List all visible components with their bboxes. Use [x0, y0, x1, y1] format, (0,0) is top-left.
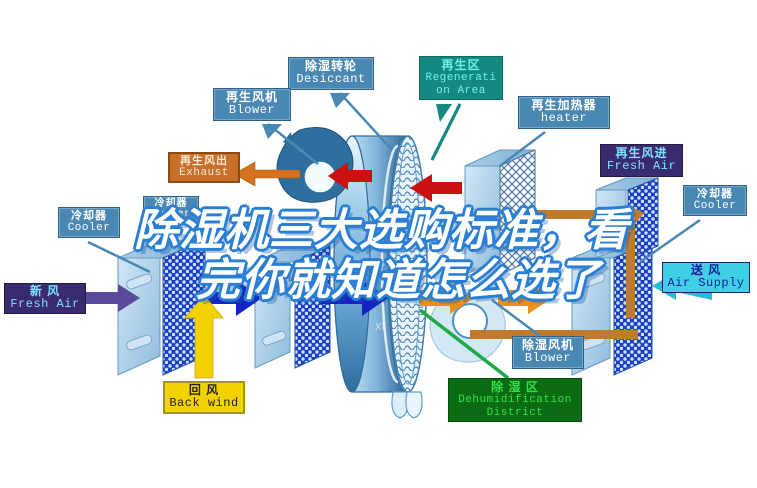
label-desiccant-wheel-en: Desiccant: [289, 73, 373, 86]
label-air-supply-en: Air Supply: [663, 277, 749, 290]
post-cooler-coil: [255, 246, 330, 368]
label-regeneration-blower-en: Blower: [214, 104, 290, 117]
label-regeneration-heater-cn: 再生加热器: [519, 99, 609, 112]
label-regeneration-area-en2: on Area: [420, 85, 502, 97]
pre-cooler-coil: [118, 240, 205, 375]
label-exhaust-en: Exhaust: [170, 167, 238, 179]
label-fresh-air-in[interactable]: 新 风 Fresh Air: [4, 283, 86, 314]
label-exhaust-cn: 再生风出: [170, 155, 238, 167]
label-regeneration-fresh-air-in-cn: 再生风进: [601, 147, 682, 160]
label-dehumidification-blower-cn: 除湿风机: [513, 339, 583, 352]
label-regeneration-fresh-air-in-en: Fresh Air: [601, 160, 682, 173]
label-regeneration-blower[interactable]: 再生风机 Blower: [213, 88, 291, 121]
label-cooler-left[interactable]: 冷却器 Cooler: [58, 207, 120, 238]
label-dehumidification-district-en1: Dehumidification: [449, 394, 581, 406]
svg-text:xt: xt: [375, 318, 386, 333]
label-regeneration-area[interactable]: 再生区 Regenerati on Area: [419, 56, 503, 100]
dehumidifier-diagram: xt: [0, 0, 757, 488]
label-regeneration-fresh-air-in[interactable]: 再生风进 Fresh Air: [600, 144, 683, 177]
label-cooler-right-en: Cooler: [684, 200, 746, 212]
label-exhaust[interactable]: 再生风出 Exhaust: [168, 152, 240, 183]
label-dehumidification-district[interactable]: 除 湿 区 Dehumidification District: [448, 378, 582, 422]
label-cooler-right[interactable]: 冷却器 Cooler: [683, 185, 747, 216]
label-back-wind-en: Back wind: [165, 397, 243, 410]
machine-schematic: xt: [0, 0, 757, 488]
label-regeneration-area-en1: Regenerati: [420, 72, 502, 84]
label-air-supply-cn: 送 风: [663, 264, 749, 277]
label-dehumidification-blower[interactable]: 除湿风机 Blower: [512, 336, 584, 369]
label-regeneration-heater[interactable]: 再生加热器 heater: [518, 96, 610, 129]
label-desiccant-wheel[interactable]: 除湿转轮 Desiccant: [288, 57, 374, 90]
label-dehumidification-blower-en: Blower: [513, 352, 583, 365]
label-back-wind[interactable]: 回 风 Back wind: [163, 381, 245, 414]
label-dehumidification-district-en2: District: [449, 407, 581, 419]
label-regeneration-area-cn: 再生区: [420, 59, 502, 72]
label-regeneration-blower-cn: 再生风机: [214, 91, 290, 104]
label-cooler-left-en: Cooler: [59, 222, 119, 234]
label-cooler-mid[interactable]: 冷却器 Cooler: [143, 196, 199, 222]
label-cooler-left-cn: 冷却器: [59, 210, 119, 222]
label-dehumidification-district-cn: 除 湿 区: [449, 381, 581, 394]
label-cooler-mid-cn: 冷却器: [144, 198, 198, 209]
label-fresh-air-in-cn: 新 风: [5, 285, 85, 298]
label-air-supply[interactable]: 送 风 Air Supply: [662, 262, 750, 293]
label-fresh-air-in-en: Fresh Air: [5, 298, 85, 311]
label-regeneration-heater-en: heater: [519, 112, 609, 125]
condensate-drain: [392, 392, 422, 418]
label-desiccant-wheel-cn: 除湿转轮: [289, 60, 373, 73]
tail-regen-area: [436, 104, 452, 122]
label-cooler-right-cn: 冷却器: [684, 188, 746, 200]
label-back-wind-cn: 回 风: [165, 384, 243, 397]
label-cooler-mid-en: Cooler: [144, 209, 198, 220]
